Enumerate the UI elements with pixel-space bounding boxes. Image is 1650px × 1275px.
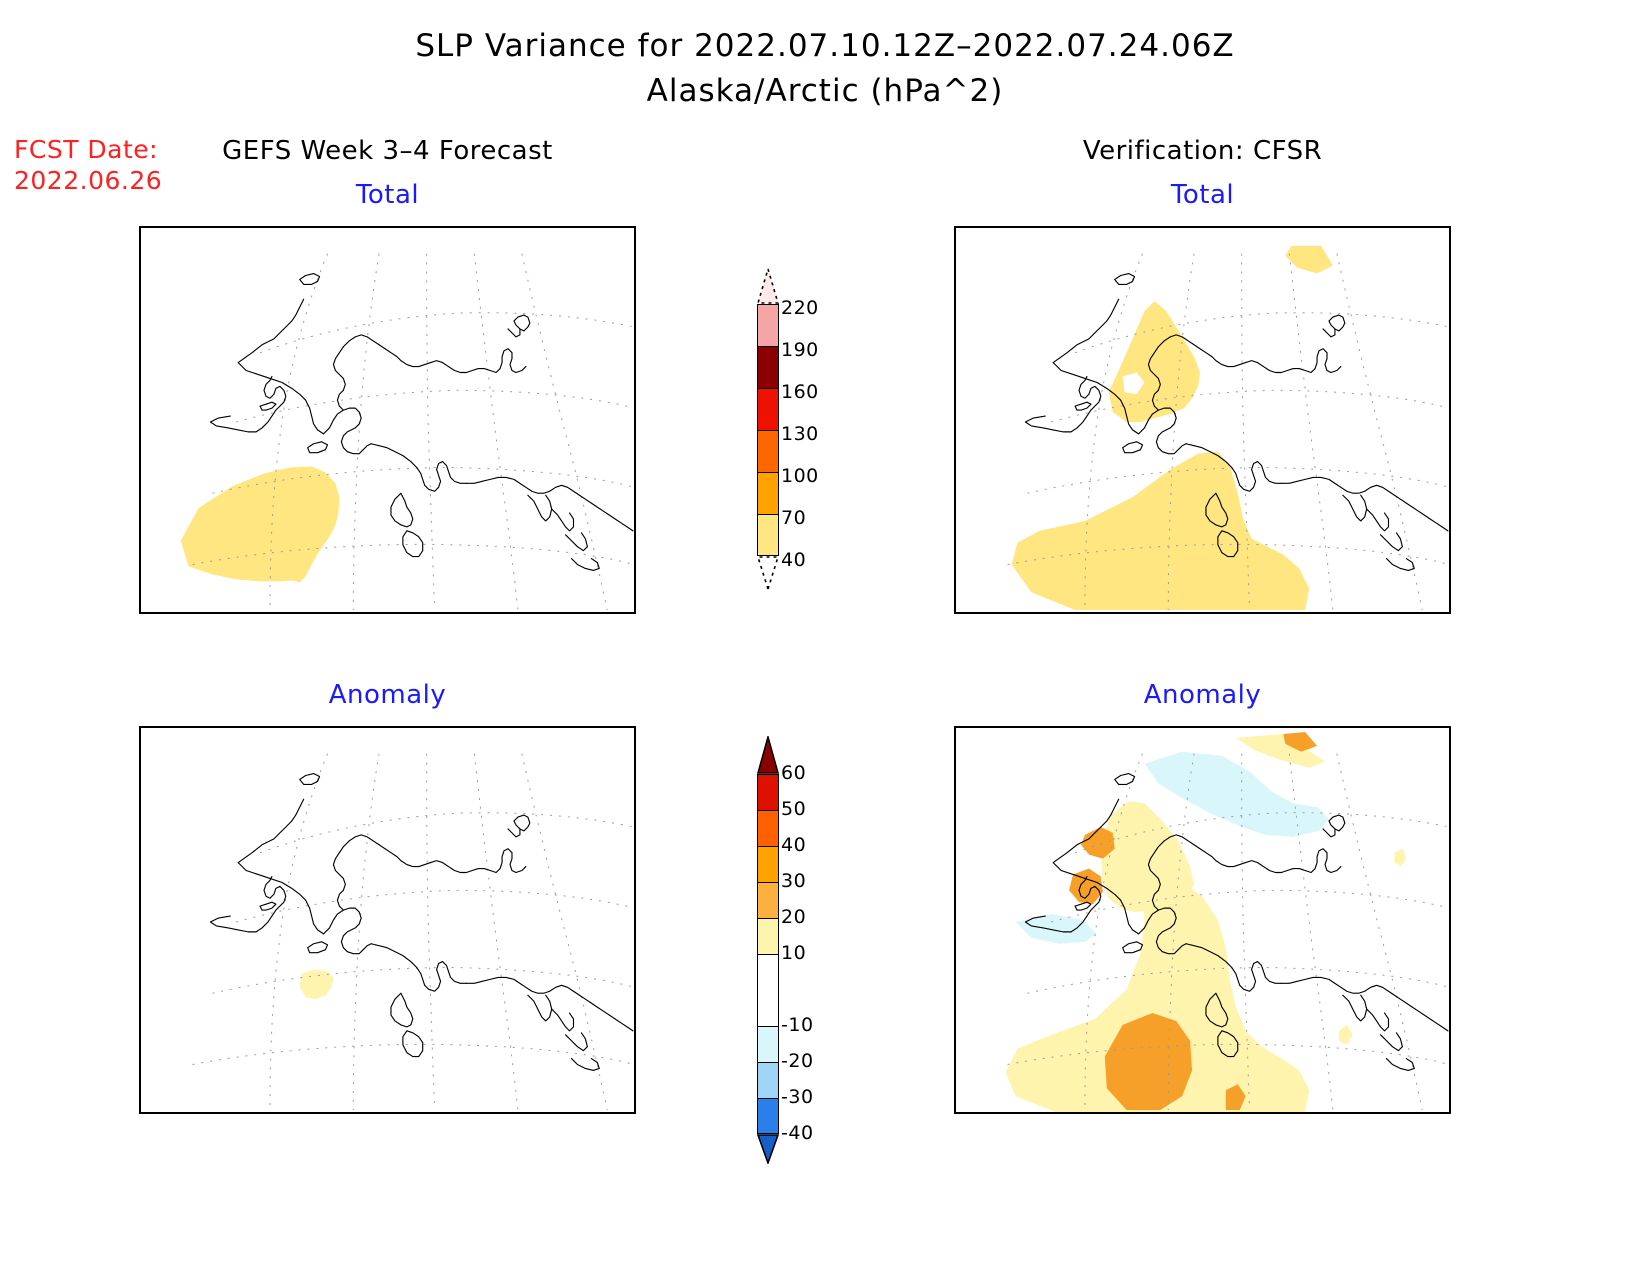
map-svg-forecast-total bbox=[141, 228, 634, 612]
colorbar-anomaly-tick-30: 30 bbox=[781, 870, 806, 892]
colorbar-anomaly-bin-30-40 bbox=[757, 846, 779, 882]
left-column-header: GEFS Week 3–4 Forecast bbox=[135, 136, 640, 166]
colorbar-anomaly-tick-10: 10 bbox=[781, 942, 806, 964]
shaded-contours-forecast-total bbox=[181, 467, 340, 583]
chart-title-line2: Alaska/Arctic (hPa^2) bbox=[0, 73, 1650, 109]
colorbar-anomaly-tick-50: 50 bbox=[781, 798, 806, 820]
colorbar-anomaly-down-arrow bbox=[757, 1134, 779, 1164]
contour-arctic-ne-10-20 bbox=[1236, 734, 1325, 768]
colorbar-anomaly-column: 60 50 40 30 20 10 -10 -20 -30 -40 bbox=[757, 736, 779, 1164]
colorbar-total-tick-40: 40 bbox=[781, 549, 806, 571]
colorbar-anomaly-tick-60: 60 bbox=[781, 762, 806, 784]
shaded-contours-verification-anomaly bbox=[1006, 732, 1407, 1112]
contour-bering-40-70 bbox=[181, 467, 340, 583]
colorbar-anomaly-tick-neg30: -30 bbox=[781, 1086, 814, 1108]
panel-title-bottom-right: Anomaly bbox=[950, 680, 1455, 710]
colorbar-anomaly-bin-50-60 bbox=[757, 774, 779, 810]
colorbar-anomaly-tick-40: 40 bbox=[781, 834, 806, 856]
colorbar-anomaly-bin-20-30 bbox=[757, 882, 779, 918]
shaded-contours-verification-total bbox=[1012, 246, 1333, 610]
contour-tiny-ne-10-20 bbox=[1394, 849, 1406, 867]
colorbar-anomaly-bin-10-20 bbox=[757, 918, 779, 954]
map-panel-forecast-anomaly[interactable] bbox=[139, 726, 636, 1114]
colorbar-anomaly-bin-neg40-neg30 bbox=[757, 1098, 779, 1134]
colorbar-anomaly-tick-neg20: -20 bbox=[781, 1050, 814, 1072]
colorbar-total-column: 220 190 160 130 100 70 40 bbox=[757, 268, 779, 590]
map-coastline bbox=[210, 774, 633, 1071]
map-svg-verification-anomaly bbox=[956, 728, 1449, 1112]
map-svg-verification-total bbox=[956, 228, 1449, 612]
colorbar-anomaly-up-arrow bbox=[757, 736, 779, 774]
colorbar-anomaly-bin-neg30-neg20 bbox=[757, 1062, 779, 1098]
colorbar-total-bin-100-130 bbox=[757, 430, 779, 472]
colorbar-total-tick-70: 70 bbox=[781, 507, 806, 529]
contour-norton-20-30 bbox=[1069, 869, 1103, 905]
colorbar-total-bin-160-190 bbox=[757, 346, 779, 388]
panel-title-bottom-left: Anomaly bbox=[135, 680, 640, 710]
chart-title-line1: SLP Variance for 2022.07.10.12Z–2022.07.… bbox=[0, 28, 1650, 64]
map-panel-forecast-total[interactable] bbox=[139, 226, 636, 614]
colorbar-total-bin-130-160 bbox=[757, 388, 779, 430]
colorbar-total-bin-40-70 bbox=[757, 514, 779, 556]
contour-arctic-ne-40-70 bbox=[1285, 246, 1333, 274]
colorbar-total-tick-190: 190 bbox=[781, 339, 819, 361]
colorbar-anomaly-tick-neg40: -40 bbox=[781, 1122, 814, 1144]
map-panel-verification-total[interactable] bbox=[954, 226, 1451, 614]
colorbar-total-tick-160: 160 bbox=[781, 381, 819, 403]
contour-tiny-east-10-20 bbox=[1339, 1025, 1353, 1045]
colorbar-total-tick-100: 100 bbox=[781, 465, 819, 487]
colorbar-total[interactable]: 220 190 160 130 100 70 40 bbox=[757, 268, 779, 590]
colorbar-total-bin-70-100 bbox=[757, 472, 779, 514]
panel-title-top-right: Total bbox=[950, 180, 1455, 210]
colorbar-total-up-arrow bbox=[757, 268, 779, 304]
right-column-header: Verification: CFSR bbox=[950, 136, 1455, 166]
map-svg-forecast-anomaly bbox=[141, 728, 634, 1112]
colorbar-anomaly[interactable]: 60 50 40 30 20 10 -10 -20 -30 -40 bbox=[757, 736, 779, 1164]
colorbar-anomaly-tick-neg10: -10 bbox=[781, 1014, 814, 1036]
colorbar-anomaly-bin-neg20-neg10 bbox=[757, 1026, 779, 1062]
colorbar-total-down-arrow bbox=[757, 556, 779, 590]
colorbar-total-tick-130: 130 bbox=[781, 423, 819, 445]
colorbar-total-tick-220: 220 bbox=[781, 297, 819, 319]
panel-title-top-left: Total bbox=[135, 180, 640, 210]
map-panel-verification-anomaly[interactable] bbox=[954, 726, 1451, 1114]
colorbar-total-bin-190-220 bbox=[757, 304, 779, 346]
colorbar-anomaly-bin-neutral bbox=[757, 954, 779, 1026]
colorbar-anomaly-tick-20: 20 bbox=[781, 906, 806, 928]
colorbar-anomaly-bin-40-50 bbox=[757, 810, 779, 846]
